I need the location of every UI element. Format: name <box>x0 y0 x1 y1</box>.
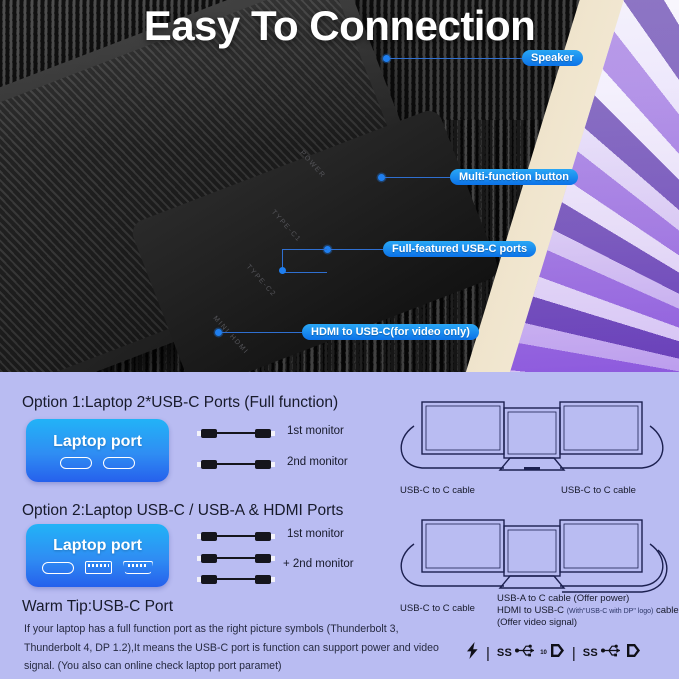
callout-speaker: Speaker <box>383 50 583 66</box>
callout-leader-line <box>385 177 450 178</box>
option-1-laptop-port-label: Laptop port <box>53 433 142 451</box>
callout-dot-icon-secondary <box>279 267 286 274</box>
callout-label-usb-c-ports: Full-featured USB-C ports <box>383 241 536 257</box>
superspeed-label: SS <box>497 647 512 659</box>
symbol-divider: | <box>572 645 576 662</box>
usb-c-plug-icon <box>201 460 217 469</box>
dp-logo-note: (With"USB-C with DP" logo) <box>567 608 654 615</box>
option-2-monitor-label-2: + 2nd monitor <box>283 558 354 570</box>
warm-tip-title: Warm Tip:USB-C Port <box>22 598 173 616</box>
hdmi-to-usb-c-text: HDMI to USB-C <box>497 605 567 616</box>
superspeed-label: SS <box>583 647 598 659</box>
warm-tip-body: If your laptop has a full function port … <box>24 620 454 676</box>
callout-bracket-usb-c <box>282 249 327 273</box>
speed-10-label: 10 <box>540 650 547 656</box>
option-2-port-icons <box>42 561 153 574</box>
connection-options-panel: Option 1:Laptop 2*USB-C Ports (Full func… <box>0 372 679 679</box>
option-1-monitor-label-2: 2nd monitor <box>287 456 348 468</box>
cable-wire <box>217 535 255 537</box>
option-2-cable-note-right-line1: USB-A to C cable (Offer power) <box>497 593 629 604</box>
usb-c-port-icon <box>60 457 92 469</box>
usb-superspeed-10-group: SS 10 <box>497 643 565 663</box>
hdmi-plug-icon <box>201 575 217 584</box>
option-2-monitor-label-1: 1st monitor <box>287 528 344 540</box>
option-2-laptop-port-label: Laptop port <box>53 537 142 555</box>
cable-wire <box>217 557 255 559</box>
callout-leader-line <box>222 332 302 333</box>
callout-label-speaker: Speaker <box>522 50 583 66</box>
usb-superspeed-group: SS <box>583 643 641 663</box>
callout-label-multi-function-button: Multi-function button <box>450 169 578 185</box>
option-2-cable-note-right-line2: HDMI to USB-C (With"USB-C with DP" logo)… <box>497 605 679 616</box>
callout-label-hdmi-to-usb-c: HDMI to USB-C(for video only) <box>302 324 479 340</box>
port-symbols-row: | SS 10 <box>466 642 641 664</box>
usb-c-plug-icon <box>255 460 271 469</box>
device-port-label-power: POWER <box>298 150 326 180</box>
cable-2-option-2 <box>201 552 271 564</box>
product-infographic: POWER TYPE-C1 TYPE-C2 MINI HDMI Easy To … <box>0 0 679 679</box>
usb-c-port-icon <box>103 457 135 469</box>
callout-usb-c-ports: Full-featured USB-C ports <box>324 241 536 257</box>
usb-c-plug-icon <box>255 554 271 563</box>
usb-trident-icon <box>601 644 623 662</box>
option-1-setup-diagram <box>392 388 672 483</box>
usb-trident-icon <box>515 644 537 662</box>
option-1-laptop-port-box: Laptop port <box>26 419 169 482</box>
callout-dot-icon <box>215 329 222 336</box>
device-port-label-type-c1: TYPE-C1 <box>270 209 302 244</box>
displayport-icon <box>550 643 565 663</box>
usb-c-port-icon <box>42 562 74 574</box>
option-2-heading: Option 2:Laptop USB-C / USB-A & HDMI Por… <box>22 502 343 520</box>
callout-leader-line <box>390 58 522 59</box>
cable-2-option-1 <box>201 458 271 470</box>
displayport-icon <box>626 643 641 663</box>
device-port-label-type-c2: TYPE-C2 <box>245 263 277 298</box>
symbol-divider: | <box>486 645 490 662</box>
cable-wire <box>217 432 255 434</box>
hero-photo: POWER TYPE-C1 TYPE-C2 MINI HDMI Easy To … <box>0 0 679 372</box>
callout-hdmi-to-usb-c: HDMI to USB-C(for video only) <box>215 324 479 340</box>
cable-word: cable <box>653 605 678 616</box>
usb-c-plug-icon <box>201 532 217 541</box>
option-2-laptop-port-box: Laptop port <box>26 524 169 587</box>
usb-c-plug-icon <box>255 575 271 584</box>
page-title: Easy To Connection <box>0 2 679 50</box>
callout-dot-icon <box>378 174 385 181</box>
thunderbolt-icon <box>466 642 479 664</box>
cable-wire <box>217 578 255 580</box>
usb-c-plug-icon <box>201 429 217 438</box>
option-2-setup-diagram <box>392 506 672 601</box>
hdmi-port-icon <box>123 561 153 574</box>
option-1-cable-note-left: USB-C to C cable <box>400 485 475 496</box>
option-1-port-icons <box>60 457 135 469</box>
option-1-cable-note-right: USB-C to C cable <box>561 485 636 496</box>
usb-a-plug-icon <box>201 554 217 563</box>
callout-dot-icon <box>383 55 390 62</box>
option-2-cable-note-right-line3: (Offer video signal) <box>497 617 577 628</box>
callout-leader-line <box>331 249 383 250</box>
callout-multi-function-button: Multi-function button <box>378 169 578 185</box>
usb-c-plug-icon <box>255 429 271 438</box>
option-1-monitor-label-1: 1st monitor <box>287 425 344 437</box>
cable-1-option-1 <box>201 427 271 439</box>
option-1-heading: Option 1:Laptop 2*USB-C Ports (Full func… <box>22 394 338 412</box>
cable-3-option-2 <box>201 573 271 585</box>
usb-a-port-icon <box>85 561 112 574</box>
option-2-cable-note-left: USB-C to C cable <box>400 603 475 614</box>
usb-c-plug-icon <box>255 532 271 541</box>
cable-1-option-2 <box>201 530 271 542</box>
cable-wire <box>217 463 255 465</box>
